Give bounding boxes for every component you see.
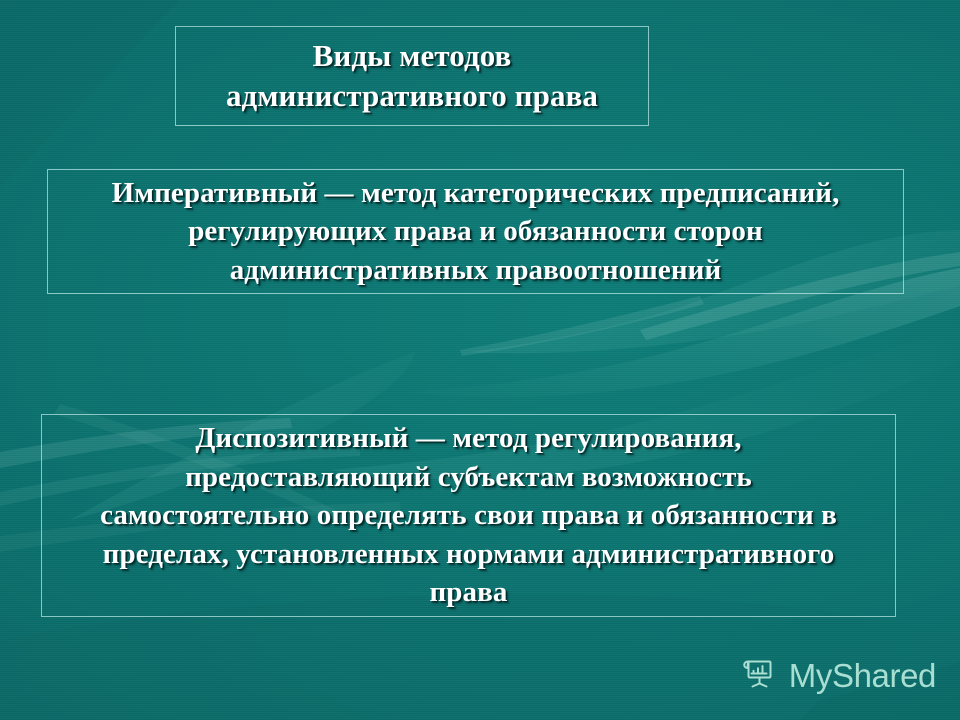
imperative-line-2: регулирующих права и обязанности сторон [54,212,897,250]
slide-title-box: Виды методов административного права [175,26,649,126]
dispositive-line-4: пределах, установленных нормами админист… [48,535,889,574]
myshared-watermark: MyShared [739,653,936,698]
dispositive-line-2: предоставляющий субъектам возможность [48,458,889,497]
presentation-chart-icon [739,653,779,698]
slide-canvas: Виды методов административного права Имп… [0,0,960,720]
dispositive-line-1: Диспозитивный — метод регулирования, [48,419,889,458]
myshared-label: MyShared [789,659,936,692]
slide-title-line-2: административного права [182,76,642,116]
dispositive-line-3: самостоятельно определять свои права и о… [48,496,889,535]
imperative-line-3: административных правоотношений [54,251,897,289]
dispositive-line-5: права [48,573,889,612]
imperative-line-1: Императивный — метод категорических пред… [54,174,897,212]
imperative-method-box: Императивный — метод категорических пред… [47,169,904,294]
dispositive-method-box: Диспозитивный — метод регулирования, пре… [41,414,896,617]
slide-title-line-1: Виды методов [182,36,642,76]
